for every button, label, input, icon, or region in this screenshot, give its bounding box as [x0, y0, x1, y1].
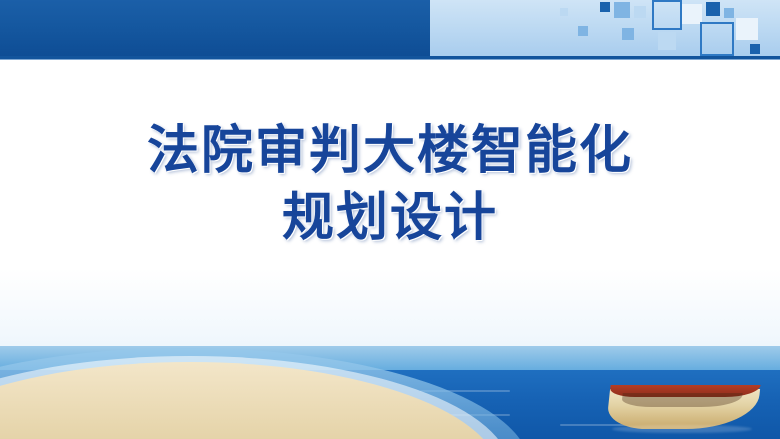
decor-square: [750, 44, 760, 54]
decor-square: [682, 4, 702, 24]
boat-illustration: [608, 375, 768, 431]
decor-square: [736, 18, 758, 40]
slide-title-line-2: 规划设计: [0, 185, 780, 252]
slide-title: 法院审判大楼智能化 规划设计: [0, 118, 780, 251]
boat-reflection: [612, 425, 752, 433]
decor-square: [724, 8, 734, 18]
decor-square: [614, 2, 630, 18]
footer-scene: [0, 346, 780, 439]
decor-square: [578, 26, 588, 36]
slide-title-line-1: 法院审判大楼智能化: [0, 118, 780, 185]
decor-square: [600, 2, 610, 12]
decor-square-outline: [700, 22, 734, 56]
decor-square: [634, 6, 646, 18]
decor-square: [706, 2, 720, 16]
decor-square: [560, 8, 568, 16]
decor-square: [658, 32, 676, 50]
presentation-slide: 法院审判大楼智能化 规划设计: [0, 0, 780, 439]
decor-square-outline: [652, 0, 682, 30]
decor-square: [622, 28, 634, 40]
header-band-dark: [0, 0, 430, 56]
header-band: [0, 0, 780, 62]
